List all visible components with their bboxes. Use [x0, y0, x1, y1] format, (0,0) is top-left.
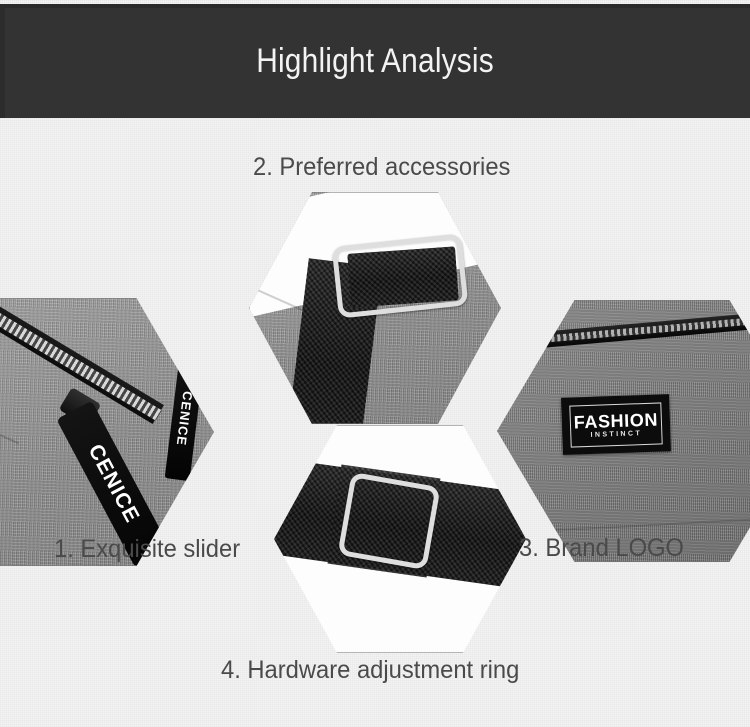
caption-logo: 3. Brand LOGO	[519, 534, 684, 563]
brand-patch: FASHION INSTINCT	[561, 394, 671, 455]
brand-patch-main-text: FASHION	[573, 410, 658, 431]
page-title: Highlight Analysis	[256, 42, 494, 81]
photo-tile-logo[interactable]: FASHION INSTINCT	[497, 300, 750, 562]
brand-patch-frame: FASHION INSTINCT	[569, 402, 662, 447]
zipper-side-tag-text: CENICE	[174, 391, 196, 448]
product-highlight-page: Highlight Analysis CENICE CENICE	[0, 0, 750, 727]
caption-accessories: 2. Preferred accessories	[253, 153, 510, 182]
photo-tile-hardware[interactable]	[274, 425, 526, 653]
caption-hardware: 4. Hardware adjustment ring	[221, 656, 519, 685]
brand-patch-sub-text: INSTINCT	[590, 430, 642, 439]
photo-logo: FASHION INSTINCT	[497, 300, 750, 562]
photo-tile-accessories[interactable]	[249, 192, 501, 424]
photo-slider: CENICE CENICE	[0, 298, 214, 566]
header-banner: Highlight Analysis	[0, 4, 750, 118]
photo-hardware	[274, 425, 526, 653]
photo-tile-slider[interactable]: CENICE CENICE	[0, 298, 214, 566]
adjustment-ring-icon	[337, 472, 440, 570]
caption-slider: 1. Exquisite slider	[54, 535, 240, 564]
photo-accessories	[249, 192, 501, 424]
metal-ring-icon	[332, 233, 469, 318]
